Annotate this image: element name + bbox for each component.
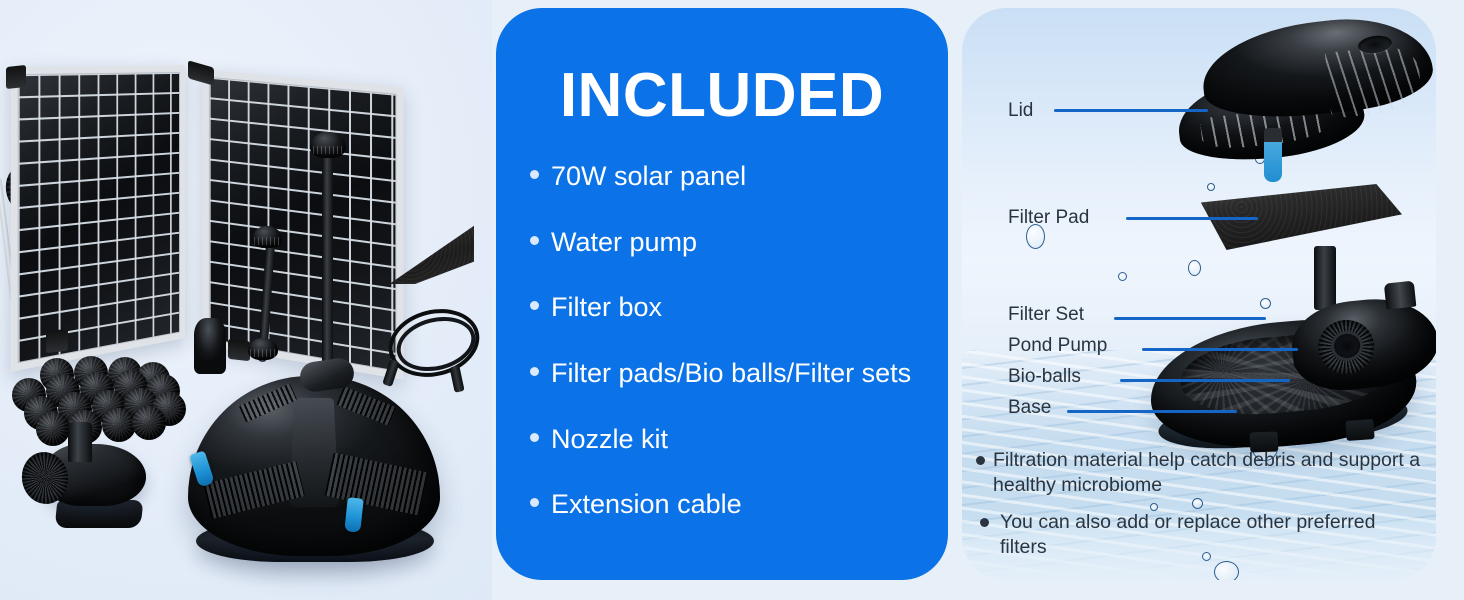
- panel-hinge-top: [188, 60, 214, 85]
- note-text: Filtration material help catch debris an…: [993, 448, 1422, 498]
- bullet-icon: [530, 367, 539, 376]
- included-title: INCLUDED: [496, 60, 948, 131]
- bullet-icon: [530, 498, 539, 507]
- included-item-label: Extension cable: [551, 490, 742, 520]
- filter-box-dome: [188, 376, 440, 556]
- bubble-icon: [1207, 183, 1215, 191]
- solar-panel-wing-right: [202, 69, 403, 380]
- callout-label-lid: Lid: [1008, 100, 1033, 122]
- bubble-icon: [1118, 272, 1127, 281]
- nozzle-stem-tall: [322, 150, 333, 375]
- note-item: Filtration material help catch debris an…: [976, 448, 1422, 498]
- bubble-icon: [1188, 260, 1201, 276]
- note-item: You can also add or replace other prefer…: [976, 510, 1422, 560]
- list-item: Filter pads/Bio balls/Filter sets: [530, 359, 936, 389]
- product-photo: [0, 0, 492, 600]
- bio-balls-cluster: [6, 356, 174, 430]
- callout-label-filter-pad: Filter Pad: [1008, 207, 1089, 229]
- base-assembly-image: [1150, 300, 1432, 450]
- nozzle-head-tall: [310, 132, 346, 158]
- list-item: Filter box: [530, 293, 936, 323]
- lid-latch-clip: [1264, 128, 1282, 182]
- panel-corner-bottom-right: [228, 339, 250, 361]
- callout-label-bio-balls: Bio-balls: [1008, 366, 1081, 388]
- pond-pump-outlet: [1384, 281, 1417, 310]
- lid-vent-slots: [1325, 43, 1423, 118]
- water-pump-image: [16, 420, 154, 536]
- included-item-label: 70W solar panel: [551, 162, 746, 192]
- included-panel: INCLUDED 70W solar panel Water pump Filt…: [496, 8, 948, 580]
- bullet-icon: [980, 518, 989, 527]
- included-item-label: Filter pads/Bio balls/Filter sets: [551, 359, 911, 389]
- nozzle-head-low: [248, 338, 278, 360]
- nozzle-cup: [194, 318, 226, 374]
- list-item: Nozzle kit: [530, 425, 936, 455]
- leader-line-filter-set: [1114, 317, 1266, 320]
- callout-label-pond-pump: Pond Pump: [1008, 335, 1107, 357]
- base-foot-right: [1345, 419, 1374, 441]
- cable-plug-female: [449, 365, 464, 393]
- list-item: Extension cable: [530, 490, 936, 520]
- panel-corner-left: [6, 65, 26, 89]
- solar-panel-wing-left: [11, 65, 186, 372]
- list-item: 70W solar panel: [530, 162, 936, 192]
- dome-vent-left: [203, 461, 305, 519]
- diagram-panel: Lid Filter Pad Filter Set Pond Pump Bio-…: [962, 8, 1436, 580]
- leader-line-pond-pump: [1142, 348, 1298, 351]
- dome-vent-top-right: [336, 386, 395, 426]
- bullet-icon: [530, 433, 539, 442]
- bullet-icon: [530, 170, 539, 179]
- included-item-label: Water pump: [551, 228, 697, 258]
- list-item: Water pump: [530, 228, 936, 258]
- callout-label-filter-set: Filter Set: [1008, 304, 1084, 326]
- note-text: You can also add or replace other prefer…: [1000, 510, 1422, 560]
- callout-label-base: Base: [1008, 397, 1051, 419]
- included-list: 70W solar panel Water pump Filter box Fi…: [530, 162, 936, 556]
- dome-vent-right: [324, 453, 427, 516]
- diagram-notes: Filtration material help catch debris an…: [976, 448, 1422, 572]
- nozzle-head-mid: [252, 226, 282, 248]
- lid-part-image: [1178, 22, 1432, 162]
- leader-line-filter-pad: [1126, 217, 1258, 220]
- bullet-icon: [530, 301, 539, 310]
- leader-line-lid: [1054, 109, 1208, 112]
- leader-line-base: [1067, 410, 1237, 413]
- product-infographic: INCLUDED 70W solar panel Water pump Filt…: [0, 0, 1464, 600]
- dome-vent-top-left: [239, 383, 297, 422]
- leader-line-bio-balls: [1120, 379, 1290, 382]
- included-item-label: Filter box: [551, 293, 662, 323]
- panel-corner-bottom-left: [46, 329, 68, 353]
- bullet-icon: [976, 456, 985, 465]
- bullet-icon: [530, 236, 539, 245]
- included-item-label: Nozzle kit: [551, 425, 668, 455]
- pump-outlet-neck: [68, 422, 92, 462]
